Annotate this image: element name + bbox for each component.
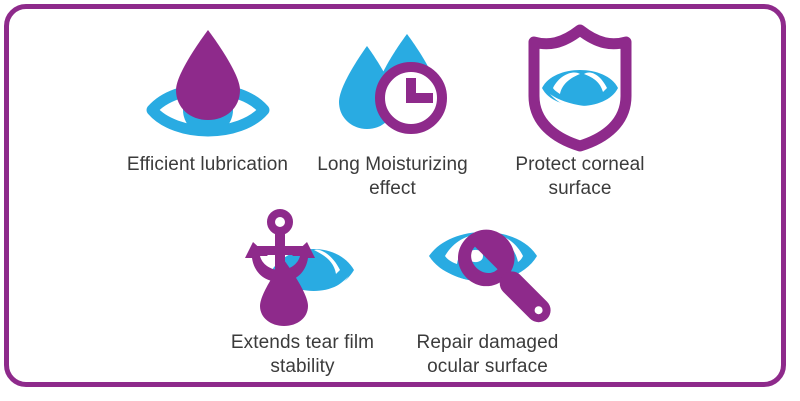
droplets-clock-icon <box>323 23 463 151</box>
eye-wrench-icon <box>413 207 563 329</box>
feature-row-top: Efficient lubrication <box>9 23 781 201</box>
feature-label: Extends tear film stability <box>231 331 374 379</box>
feature-efficient-lubrication[interactable]: Efficient lubrication <box>115 23 300 177</box>
feature-extends-tear-film-stability[interactable]: Extends tear film stability <box>210 207 395 379</box>
feature-protect-corneal-surface[interactable]: Protect corneal surface <box>485 23 675 201</box>
feature-long-moisturizing-effect[interactable]: Long Moisturizing effect <box>300 23 485 201</box>
feature-row-bottom: Extends tear film stability <box>9 207 781 379</box>
feature-repair-damaged-ocular-surface[interactable]: Repair damaged ocular surface <box>395 207 580 379</box>
droplet-over-eye-icon <box>138 23 278 151</box>
anchor-eye-droplet-icon <box>228 207 378 329</box>
feature-label: Repair damaged ocular surface <box>417 331 559 379</box>
feature-rows: Efficient lubrication <box>9 9 781 382</box>
shield-eye-icon <box>510 23 650 151</box>
infographic-card: Efficient lubrication <box>4 4 786 387</box>
feature-label: Efficient lubrication <box>127 153 288 177</box>
feature-label: Long Moisturizing effect <box>317 153 468 201</box>
feature-label: Protect corneal surface <box>515 153 644 201</box>
